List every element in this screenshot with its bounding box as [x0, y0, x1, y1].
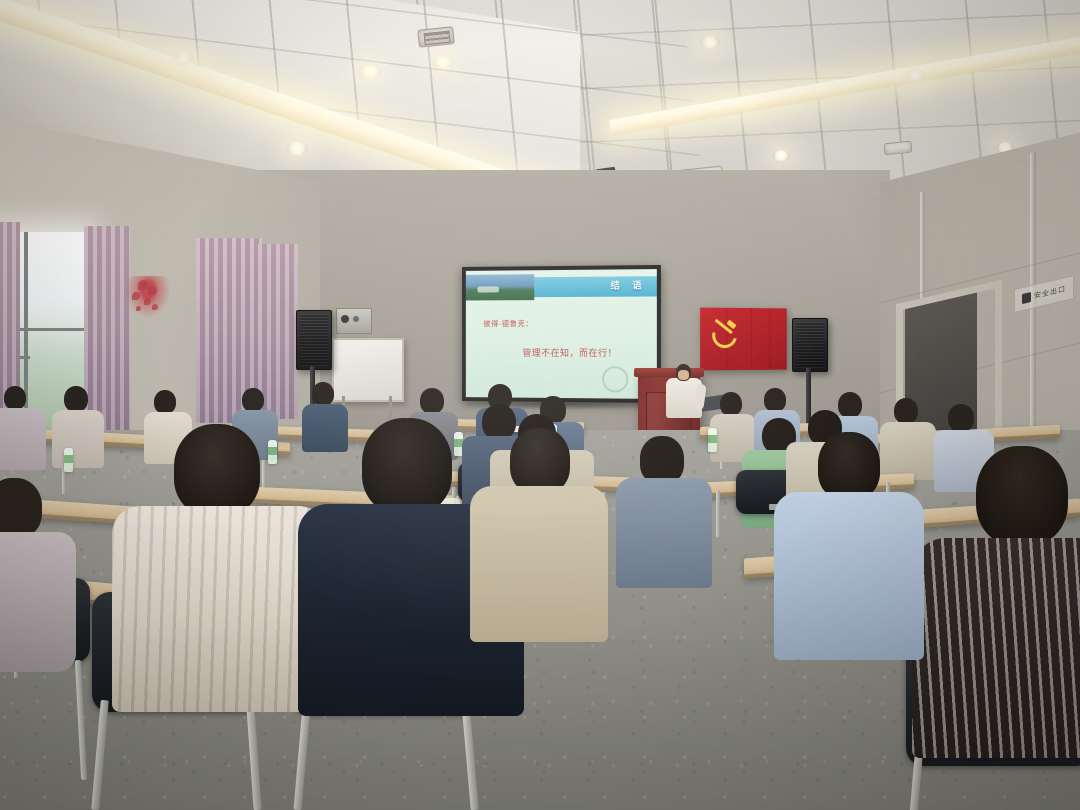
attendee-head — [838, 392, 862, 418]
curtain-middle — [84, 226, 130, 436]
attendee-head — [818, 432, 880, 500]
downlight-2 — [358, 64, 382, 79]
hammer-and-sickle-icon — [712, 321, 738, 347]
presenter-face — [678, 370, 689, 380]
projection-screen: 结 语 彼得·德鲁克： 管理不在知，而在行！ — [466, 269, 657, 399]
downlight-3 — [286, 142, 308, 155]
whiteboard — [332, 338, 404, 402]
attendee-head — [4, 386, 26, 410]
ceiling-vent-1 — [417, 26, 455, 48]
av-indicator-icon — [353, 316, 359, 322]
attendee-head — [154, 390, 176, 414]
attendee-head — [510, 428, 570, 494]
slide-quote: 管理不在知，而在行！ — [522, 346, 617, 359]
water-bottle[interactable] — [268, 440, 277, 464]
slide-banner-title: 结 语 — [611, 278, 647, 291]
wall-mural — [122, 276, 174, 322]
conference-room-photo: 安全出口 结 语 彼得·德鲁克： 管理不在知，而在行！ — [0, 0, 1080, 810]
slide-watermark — [602, 366, 628, 392]
downlight-1 — [172, 52, 194, 66]
attendee-head — [0, 478, 42, 538]
attendee-torso — [52, 410, 104, 468]
attendee-head — [764, 388, 786, 412]
exit-sign-icon — [1022, 292, 1031, 304]
attendee-torso — [112, 506, 328, 712]
curtain-right-2 — [258, 244, 298, 419]
attendee-head — [894, 398, 918, 424]
attendee-torso — [0, 408, 46, 470]
attendee-head — [64, 386, 88, 412]
slide-attribution: 彼得·德鲁克： — [483, 318, 533, 329]
attendee-head — [242, 388, 264, 412]
lectern-top — [634, 368, 704, 377]
downlight-6 — [904, 68, 926, 81]
attendee-torso — [302, 404, 348, 452]
attendee-head — [420, 388, 444, 414]
attendee-head — [482, 404, 516, 440]
av-equipment — [336, 308, 372, 334]
water-bottle[interactable] — [708, 428, 717, 452]
slide-header-photo — [466, 274, 534, 300]
attendee-torso — [880, 422, 936, 480]
attendee-torso — [616, 478, 712, 588]
attendee-torso — [0, 532, 76, 672]
water-bottle[interactable] — [64, 448, 73, 472]
av-knob-icon — [341, 315, 349, 323]
attendee-head — [948, 404, 974, 432]
attendee-torso — [470, 486, 608, 642]
downlight-5 — [700, 36, 720, 48]
attendee-head — [640, 436, 684, 484]
pa-speaker-right — [792, 318, 828, 372]
downlight-8 — [772, 150, 790, 161]
attendee-head — [976, 446, 1068, 546]
projection-screen-frame: 结 语 彼得·德鲁克： 管理不在知，而在行！ — [462, 265, 661, 403]
exit-sign-text: 安全出口 — [1034, 284, 1066, 301]
downlight-4 — [432, 56, 454, 69]
attendee-head — [362, 418, 452, 514]
party-flag — [700, 308, 787, 371]
attendee-torso — [774, 492, 924, 660]
attendee-head — [312, 382, 334, 406]
attendee-head — [720, 392, 742, 416]
attendee-head — [174, 424, 260, 516]
attendee-torso — [912, 538, 1080, 758]
pa-speaker-left — [296, 310, 332, 370]
